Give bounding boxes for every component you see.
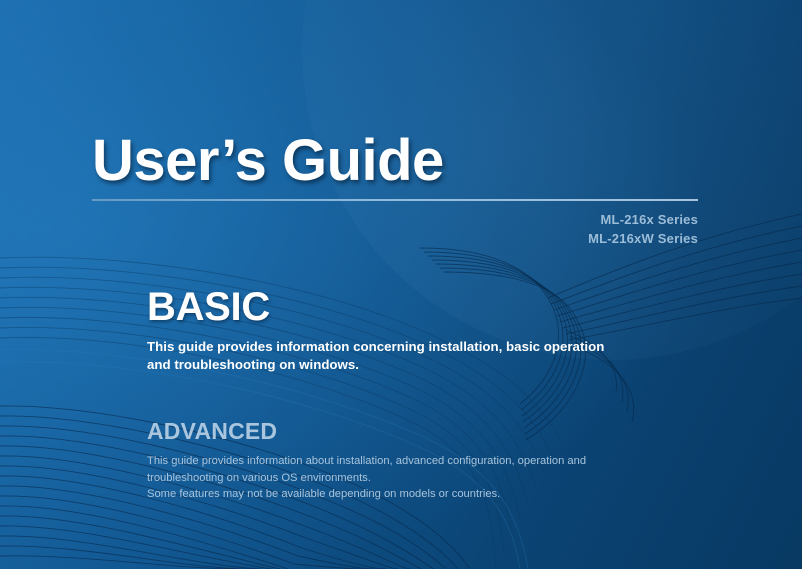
section-advanced-description: This guide provides information about in… [147, 453, 617, 503]
cover-page: User’s Guide ML-216x Series ML-216xW Ser… [0, 0, 802, 569]
section-advanced-title: ADVANCED [147, 418, 707, 444]
model-series-wireless: ML-216xW Series [92, 229, 698, 248]
title-block: User’s Guide ML-216x Series ML-216xW Ser… [92, 131, 698, 248]
title-divider [92, 199, 698, 201]
section-basic-description: This guide provides information concerni… [147, 338, 617, 374]
model-series-list: ML-216x Series ML-216xW Series [92, 210, 698, 248]
section-basic: BASIC This guide provides information co… [147, 286, 707, 374]
section-advanced-line-1: This guide provides information about in… [147, 453, 617, 486]
section-advanced-line-2: Some features may not be available depen… [147, 486, 617, 503]
section-advanced: ADVANCED This guide provides information… [147, 418, 707, 503]
model-series-primary: ML-216x Series [92, 210, 698, 229]
section-basic-title: BASIC [147, 286, 707, 328]
page-title: User’s Guide [92, 131, 698, 191]
